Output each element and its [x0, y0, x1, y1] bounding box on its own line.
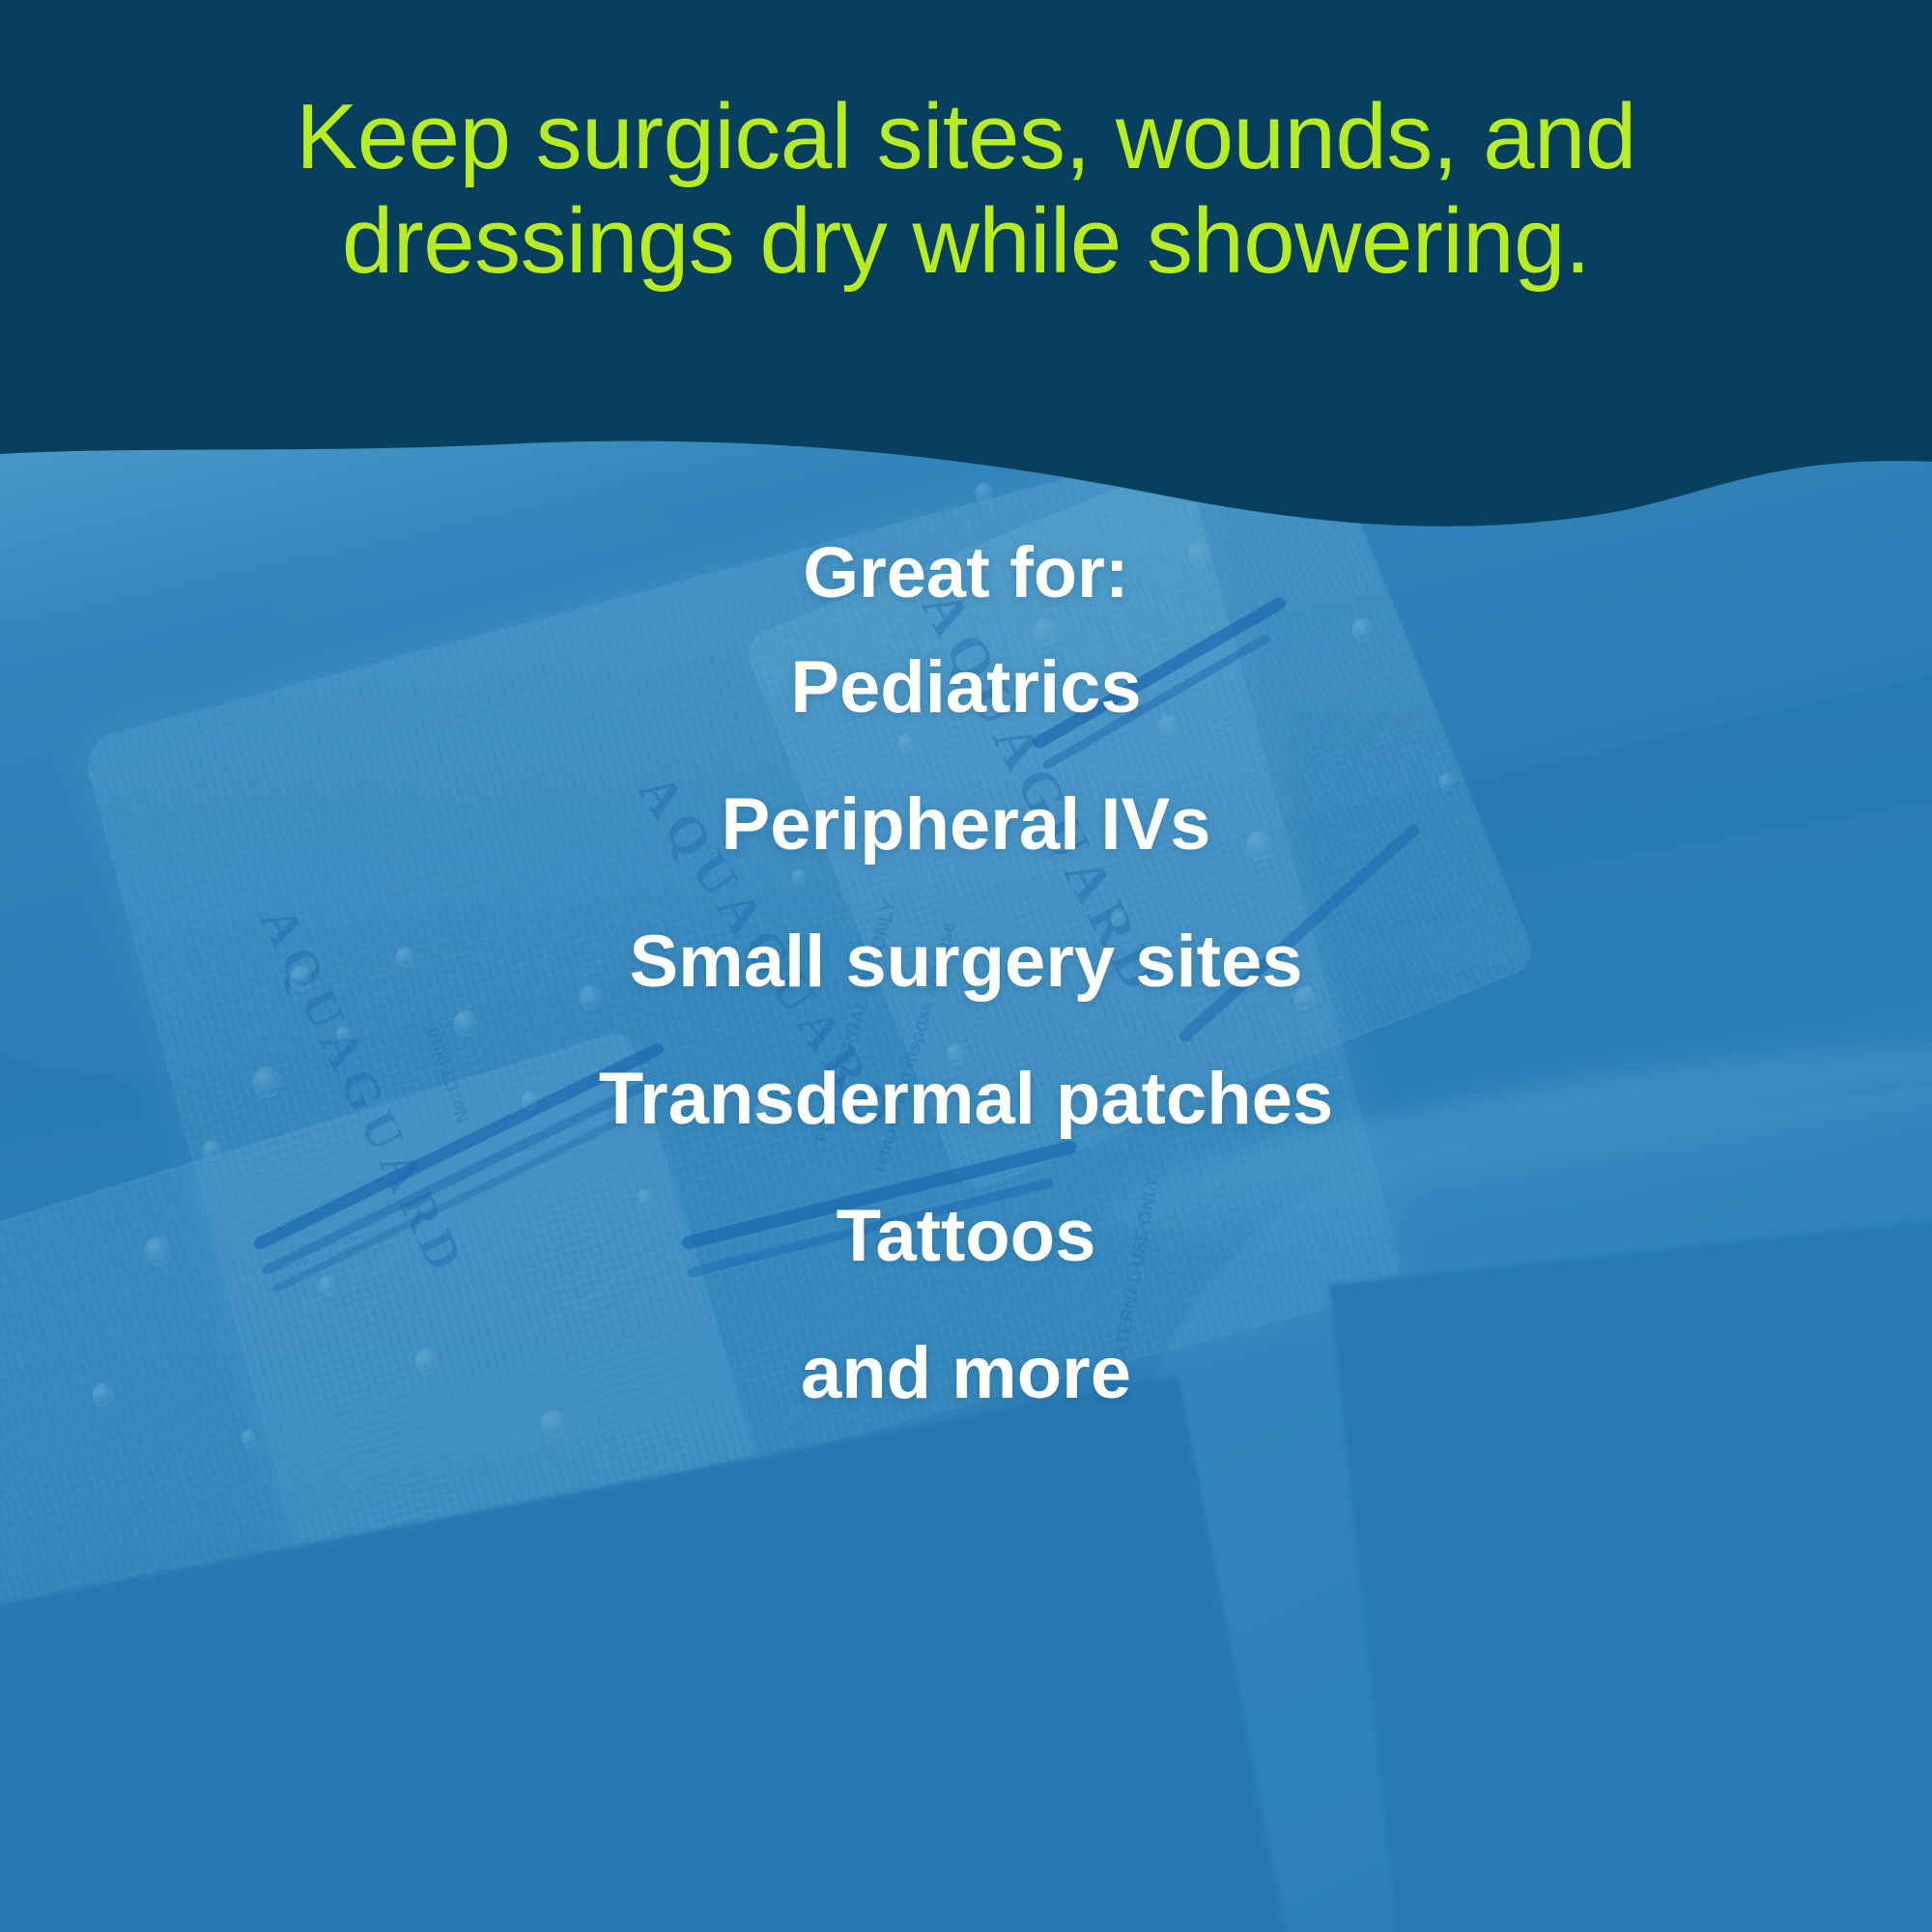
list-item: Pediatrics: [0, 651, 1932, 724]
great-for-section: Great for: Pediatrics Peripheral IVs Sma…: [0, 537, 1932, 1410]
list-item: Small surgery sites: [0, 925, 1932, 999]
great-for-heading: Great for:: [0, 537, 1932, 609]
list-item: Transdermal patches: [0, 1063, 1932, 1136]
poster: AQUAGUARD AQUAGUARD AQUAGUARD FOR EXTERN…: [0, 0, 1932, 1932]
headline-line-2: dressings dry while showering.: [116, 189, 1816, 294]
headline-line-1: Keep surgical sites, wounds, and: [116, 85, 1816, 189]
list-item: Peripheral IVs: [0, 788, 1932, 862]
page-headline: Keep surgical sites, wounds, and dressin…: [0, 85, 1932, 293]
list-item: Tattoos: [0, 1200, 1932, 1273]
list-item: and more: [0, 1337, 1932, 1410]
